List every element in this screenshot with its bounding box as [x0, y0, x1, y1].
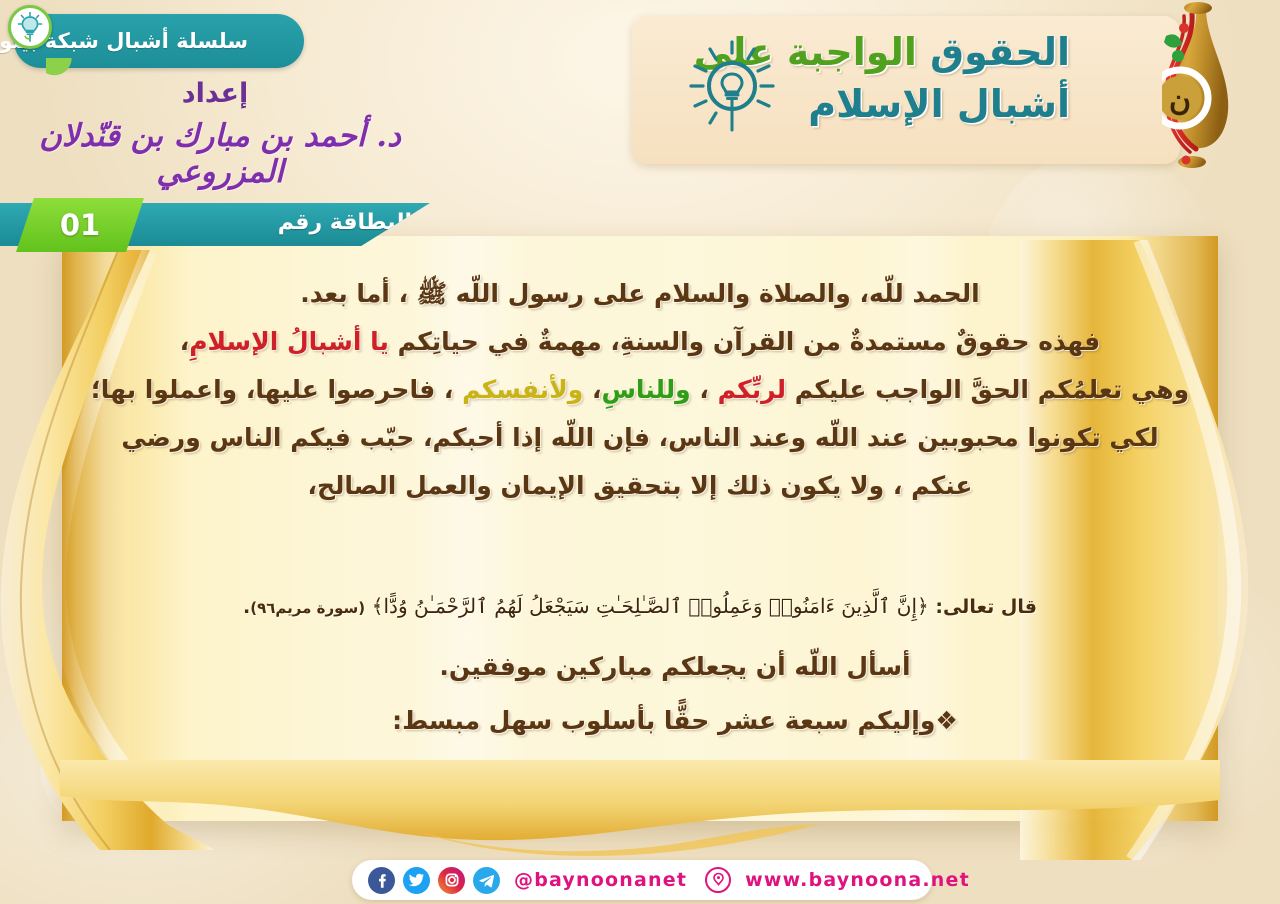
- card-number-label: البطاقة رقم: [278, 210, 412, 235]
- verse-intro-label: قال تعالى:: [935, 596, 1037, 618]
- social-handle: @baynoonanet: [514, 869, 687, 891]
- intro-line: الحمد للّه، والصلاة والسلام على رسول الل…: [90, 270, 1190, 318]
- website-url: www.baynoona.net: [745, 869, 970, 891]
- para2-highlight-nas: وللناسِ: [601, 375, 690, 404]
- lightbulb-icon: [8, 5, 52, 49]
- verse-source-reference: (سورة مريم٩٦): [250, 599, 365, 617]
- para2-text-a: وهي تعلمُكم الحقَّ الواجب عليكم: [786, 375, 1189, 404]
- para1-highlight-ashbal: يا أشبالُ الإسلامِ: [189, 327, 389, 356]
- title-part-rights: الحقوق: [930, 30, 1070, 74]
- card-number-badge: 01: [16, 198, 144, 252]
- outro-bullet-icon: ❖: [935, 706, 957, 735]
- dua-line: أسأل اللّه أن يجعلكم مباركين موفقين.: [200, 652, 1150, 681]
- author-name: د. أحمد بن مبارك بن قنّدلان المزروعي: [0, 118, 440, 190]
- card-canvas: سلسلة أشبال شبكة بينونة إعداد د. أحمد بن…: [0, 0, 1280, 904]
- para2-highlight-anfus: ولأنفسكم: [462, 375, 583, 404]
- paragraph-two: وهي تعلمُكم الحقَّ الواجب عليكم لربِّكم …: [90, 366, 1190, 510]
- verse-open-bracket: ﴿: [917, 594, 929, 618]
- outro-line: ❖وإليكم سبعة عشر حقًّا بأسلوب سهل مبسط:: [200, 706, 1150, 735]
- footer-bar: @baynoonanet www.baynoona.net: [352, 860, 932, 900]
- para1-text-a: فهذه حقوقٌ مستمدةٌ من القرآن والسنةِ، مه…: [389, 327, 1100, 356]
- telegram-icon[interactable]: [473, 867, 500, 894]
- baynoona-logo-icon: [705, 867, 731, 893]
- para2-highlight-rabb: لربِّكم: [718, 375, 786, 404]
- brand-series-pill[interactable]: سلسلة أشبال شبكة بينونة: [14, 14, 304, 68]
- quran-verse-line: قال تعالى: ﴿إِنَّ ٱلَّذِينَ ءَامَنُوا۟ و…: [140, 594, 1140, 618]
- para1-text-b: ،: [180, 327, 190, 356]
- facebook-icon[interactable]: [368, 867, 395, 894]
- verse-text: إِنَّ ٱلَّذِينَ ءَامَنُوا۟ وَعَمِلُوا۟ ٱ…: [384, 594, 918, 618]
- para2-sep-2: ،: [583, 375, 601, 404]
- body-text-block: الحمد للّه، والصلاة والسلام على رسول الل…: [90, 270, 1190, 510]
- brand-series-label: سلسلة أشبال شبكة بينونة: [14, 29, 290, 53]
- verse-close-bracket: ﴾: [372, 594, 384, 618]
- title-panel: الحقوق الواجبة على أشبال الإسلام: [632, 16, 1180, 164]
- para2-sep-1: ،: [691, 375, 718, 404]
- svg-text:ن: ن: [1169, 83, 1191, 118]
- prepared-by-label: إعداد: [0, 78, 430, 109]
- card-number-value: 01: [60, 208, 100, 242]
- twitter-icon[interactable]: [403, 867, 430, 894]
- outro-text: وإليكم سبعة عشر حقًّا بأسلوب سهل مبسط:: [392, 706, 935, 735]
- paragraph-one: فهذه حقوقٌ مستمدةٌ من القرآن والسنةِ، مه…: [90, 318, 1190, 366]
- instagram-icon[interactable]: [438, 867, 465, 894]
- sun-lightbulb-icon: [684, 38, 780, 138]
- ornamental-emblem-icon: ن: [1162, 2, 1236, 170]
